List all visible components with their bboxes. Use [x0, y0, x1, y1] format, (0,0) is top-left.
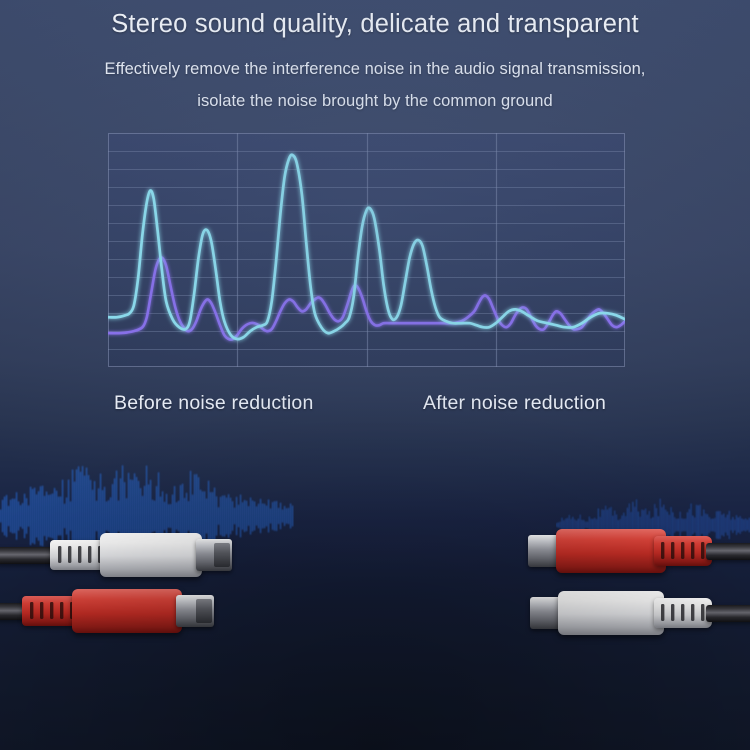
cable-right-white-wire: [706, 605, 750, 622]
subtitle-line-2: isolate the noise brought by the common …: [0, 85, 750, 117]
rca-plug-right-red-barrel: [556, 529, 666, 573]
rca-plug-left-red-tip: [196, 599, 212, 623]
rca-plug-right-white-barrel: [558, 591, 664, 635]
strain-relief-right-white: [654, 598, 712, 628]
noise-comparison-chart: [108, 133, 625, 367]
strain-relief-ribs-icon: [654, 536, 712, 566]
caption-after-noise-reduction: After noise reduction: [423, 392, 606, 415]
caption-before-noise-reduction: Before noise reduction: [114, 392, 314, 415]
cable-right-red-wire: [706, 543, 750, 560]
product-photo: [0, 455, 750, 750]
chart-captions: Before noise reduction After noise reduc…: [0, 392, 750, 422]
page-title: Stereo sound quality, delicate and trans…: [0, 0, 750, 41]
strain-relief-ribs-icon: [654, 598, 712, 628]
product-promo-image: Stereo sound quality, delicate and trans…: [0, 0, 750, 750]
rca-plug-left-white-tip: [214, 543, 230, 567]
subtitle-line-1: Effectively remove the interference nois…: [0, 41, 750, 85]
rca-plug-left-red-barrel: [72, 589, 182, 633]
strain-relief-right-red: [654, 536, 712, 566]
header: Stereo sound quality, delicate and trans…: [0, 0, 750, 117]
rca-plug-left-white-barrel: [100, 533, 202, 577]
waveform-chart-svg: [108, 133, 625, 367]
